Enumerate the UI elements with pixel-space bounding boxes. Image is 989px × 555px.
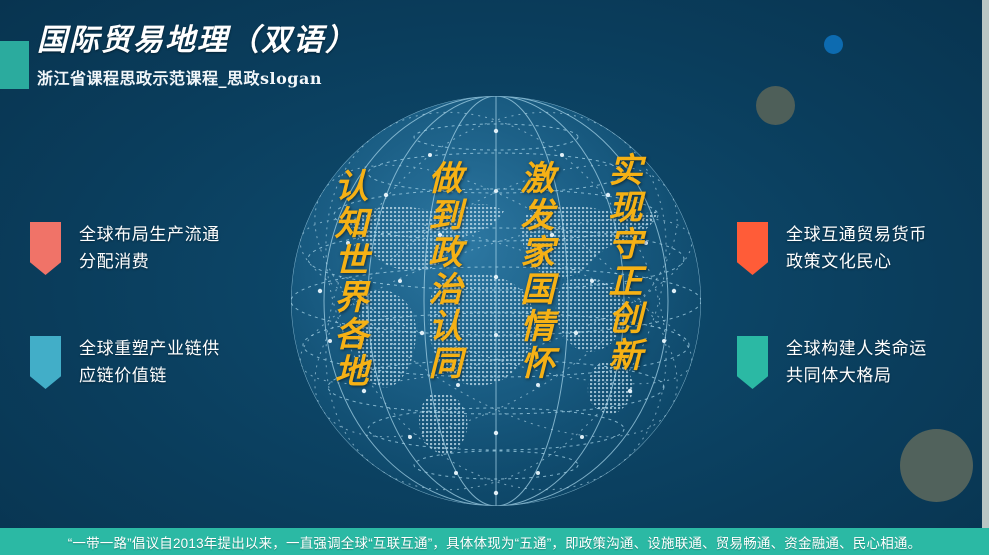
slogan-column-4: 实现守正创新	[604, 152, 640, 374]
presentation-slide: 认知世界各地 做到政治认同 激发家国情怀 实现守正创新 国际贸易地理（双语） 浙…	[0, 0, 989, 555]
decorative-gray-circle-large	[900, 429, 973, 502]
pentagon-marker-icon	[30, 336, 61, 389]
bullet-label: 全球构建人类命运 共同体大格局	[786, 336, 927, 390]
bullet-label: 全球布局生产流通 分配消费	[79, 222, 220, 276]
decorative-blue-dot	[824, 35, 843, 54]
slogan-column-1: 认知世界各地	[330, 168, 366, 390]
bullet-item-right-2[interactable]: 全球构建人类命运 共同体大格局	[737, 336, 927, 390]
slide-right-edge	[982, 0, 989, 528]
bullet-label: 全球重塑产业链供 应链价值链	[79, 336, 220, 390]
bullet-item-right-1[interactable]: 全球互通贸易货币 政策文化民心	[737, 222, 927, 276]
page-title: 国际贸易地理（双语）	[37, 24, 457, 59]
pentagon-marker-icon	[30, 222, 61, 275]
page-subtitle: 浙江省课程思政示范课程_思政slogan	[37, 65, 457, 89]
slogan-column-3: 激发家国情怀	[516, 160, 552, 382]
pentagon-marker-icon	[737, 222, 768, 275]
title-accent-square	[0, 41, 29, 89]
title-block: 国际贸易地理（双语） 浙江省课程思政示范课程_思政slogan	[37, 24, 457, 89]
bullet-item-left-2[interactable]: 全球重塑产业链供 应链价值链	[30, 336, 220, 390]
bottom-banner-text: “一带一路”倡议自2013年提出以来，一直强调全球“互联互通”，具体体现为“五通…	[68, 532, 922, 552]
bottom-banner: “一带一路”倡议自2013年提出以来，一直强调全球“互联互通”，具体体现为“五通…	[0, 528, 989, 555]
bullet-label: 全球互通贸易货币 政策文化民心	[786, 222, 927, 276]
slogan-column-2: 做到政治认同	[424, 160, 460, 382]
decorative-gray-circle-top	[756, 86, 795, 125]
pentagon-marker-icon	[737, 336, 768, 389]
bullet-item-left-1[interactable]: 全球布局生产流通 分配消费	[30, 222, 220, 276]
